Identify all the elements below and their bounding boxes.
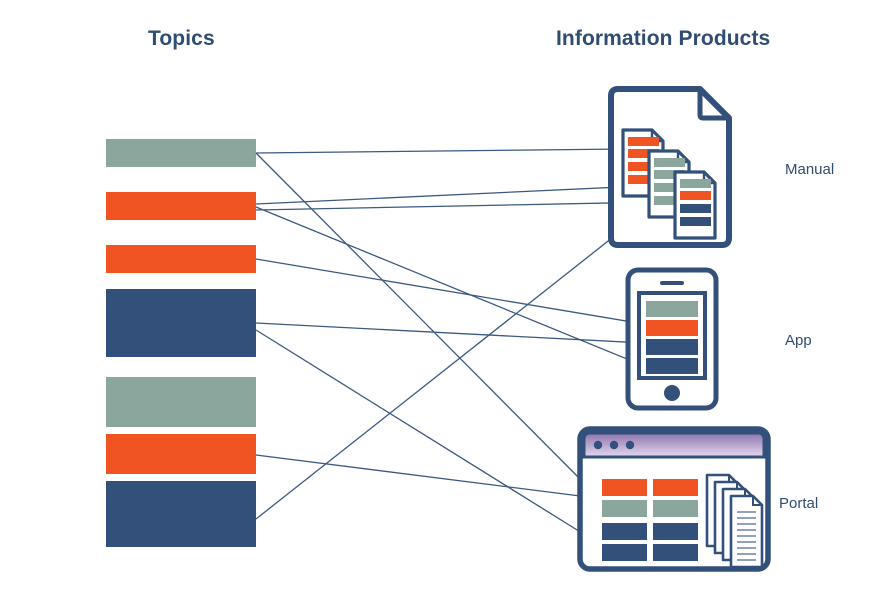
topic-bar[interactable] [106,139,256,167]
topic-bar[interactable] [106,245,256,273]
topic-bar[interactable] [106,377,256,427]
product-label-portal: Portal [779,495,818,512]
smartphone-icon[interactable] [624,266,720,417]
topic-bar[interactable] [106,192,256,220]
browser-window-icon[interactable] [576,425,772,578]
connector-line [256,323,644,343]
topic-bar[interactable] [106,289,256,357]
connector-line [256,149,626,153]
connector-line [256,330,590,538]
topic-bar[interactable] [106,434,256,474]
connector-line [256,259,644,324]
topic-bar[interactable] [106,481,256,547]
connector-line [256,153,588,487]
document-stack-icon[interactable] [604,86,736,259]
window-dot-icon [594,441,602,449]
connector-line [256,207,644,366]
product-label-manual: Manual [785,161,834,178]
home-button-icon [664,385,680,401]
connector-line [256,186,643,204]
manual-page-3 [675,172,715,238]
diagram-canvas: Topics Information Products [0,0,872,594]
speaker-slot-icon [660,281,684,285]
connector-line [256,202,658,210]
connector-line [256,455,588,497]
product-label-app: App [785,332,812,349]
topics-heading: Topics [148,27,215,51]
information-products-heading: Information Products [556,27,770,51]
window-dot-icon [626,441,634,449]
window-dot-icon [610,441,618,449]
